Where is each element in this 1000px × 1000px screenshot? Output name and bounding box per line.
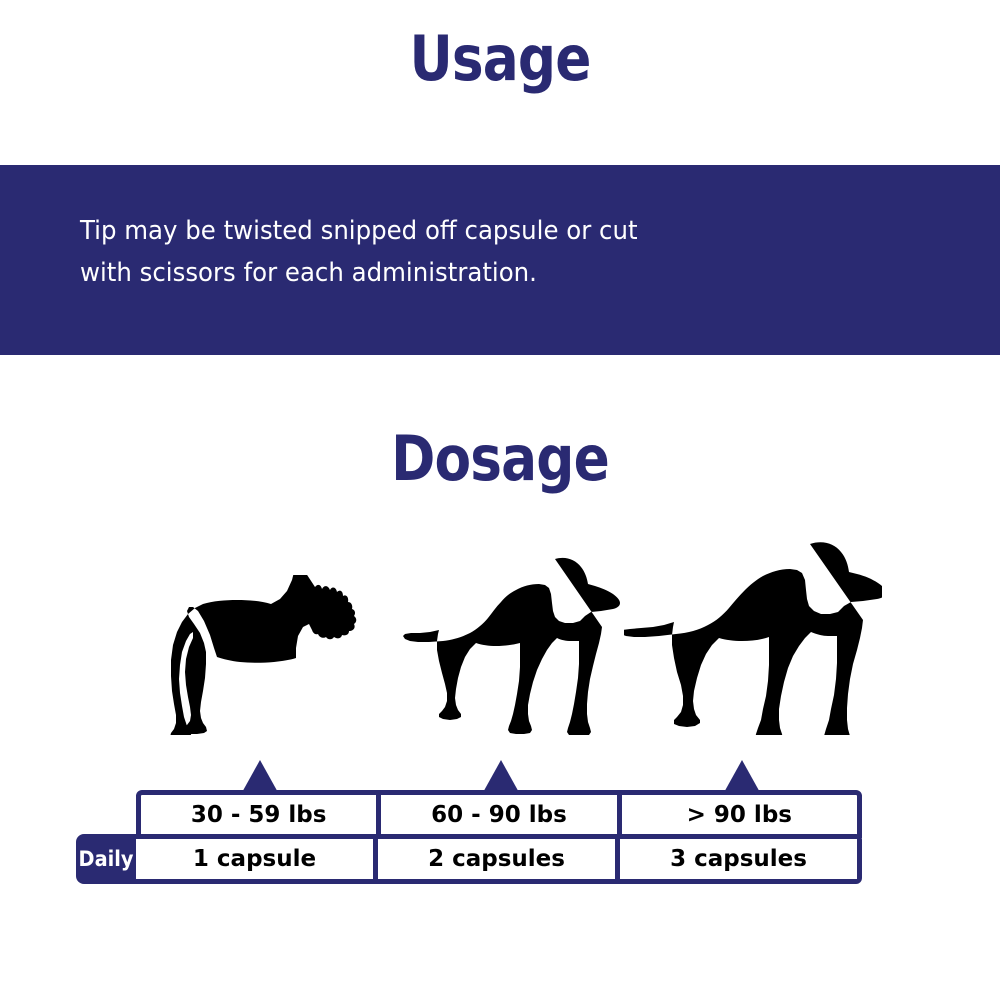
dosage-table-daily-row: Daily 1 capsule 2 capsules 3 capsules (76, 834, 862, 884)
dog-silhouette-row (0, 520, 1000, 735)
usage-instruction-line-2: with scissors for each administration. (80, 253, 794, 295)
large-dog-silhouette-icon (624, 540, 882, 735)
usage-instruction-banner: Tip may be twisted snipped off capsule o… (0, 165, 1000, 355)
dosage-table: 30 - 59 lbs 60 - 90 lbs > 90 lbs Daily 1… (0, 790, 1000, 890)
weight-cell-3: > 90 lbs (617, 795, 857, 835)
dose-cell-1: 1 capsule (136, 839, 373, 879)
dose-cell-3: 3 capsules (620, 839, 857, 879)
page-title-usage: Usage (70, 28, 930, 90)
usage-instruction-line-1: Tip may be twisted snipped off capsule o… (80, 211, 794, 253)
usage-instruction-text: Tip may be twisted snipped off capsule o… (80, 211, 794, 294)
section-title-dosage: Dosage (70, 428, 930, 490)
weight-cell-1: 30 - 59 lbs (141, 795, 376, 835)
dose-cell-2: 2 capsules (378, 839, 615, 879)
medium-dog-silhouette-icon (403, 553, 621, 735)
weight-cell-2: 60 - 90 lbs (376, 795, 616, 835)
dosage-table-weight-row: 30 - 59 lbs 60 - 90 lbs > 90 lbs (136, 790, 862, 838)
small-dog-silhouette-icon (163, 575, 363, 735)
daily-row-label: Daily (78, 847, 133, 871)
daily-dose-cells: 1 capsule 2 capsules 3 capsules (136, 839, 857, 879)
